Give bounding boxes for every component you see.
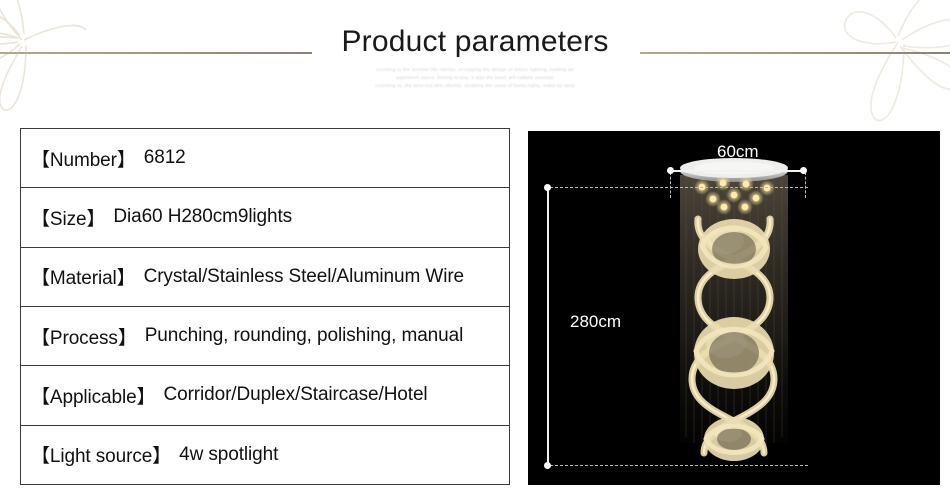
spec-value: Crystal/Stainless Steel/Aluminum Wire bbox=[144, 266, 464, 288]
page-title: Product parameters bbox=[0, 22, 950, 62]
spec-key: 【Number】 bbox=[31, 145, 136, 172]
spec-value: Corridor/Duplex/Staircase/Hotel bbox=[163, 384, 427, 406]
height-dimension-dot-bottom bbox=[544, 462, 551, 469]
subtitle-line-1: ccording to the another life interior, o… bbox=[0, 66, 950, 74]
dimension-extension-bottom bbox=[550, 465, 808, 466]
width-dimension-dot-right bbox=[800, 167, 807, 174]
spec-value: Punching, rounding, polishing, manual bbox=[145, 325, 463, 347]
spec-value: Dia60 H280cm9lights bbox=[113, 206, 292, 228]
table-row: 【Light source】 4w spotlight bbox=[21, 426, 509, 484]
dimension-extension-right bbox=[805, 172, 806, 198]
width-dimension-dot-left bbox=[667, 167, 674, 174]
subtitle-line-2: apartment space, belong to you, it was t… bbox=[0, 74, 950, 82]
spec-key: 【Process】 bbox=[31, 323, 137, 350]
table-row: 【Process】 Punching, rounding, polishing,… bbox=[21, 307, 509, 366]
height-dimension-line bbox=[547, 187, 549, 466]
product-parameters-page: Product parameters ccording to the anoth… bbox=[0, 0, 950, 495]
table-row: 【Material】 Crystal/Stainless Steel/Alumi… bbox=[21, 248, 509, 307]
spec-key: 【Size】 bbox=[31, 204, 105, 231]
dimension-extension-left bbox=[670, 172, 671, 198]
table-row: 【Size】 Dia60 H280cm9lights bbox=[21, 188, 509, 247]
dimension-extension-top bbox=[550, 187, 808, 188]
table-row: 【Number】 6812 bbox=[21, 129, 509, 188]
width-dimension-line bbox=[670, 170, 806, 172]
spec-key: 【Applicable】 bbox=[31, 382, 155, 409]
spec-value: 4w spotlight bbox=[179, 444, 278, 466]
chandelier-product-image bbox=[668, 157, 800, 475]
spec-table: 【Number】 6812 【Size】 Dia60 H280cm9lights… bbox=[20, 128, 510, 485]
width-dimension-label: 60cm bbox=[717, 142, 759, 162]
spec-value: 6812 bbox=[144, 147, 186, 169]
height-dimension-label: 280cm bbox=[570, 312, 621, 332]
page-subtitle: ccording to the another life interior, o… bbox=[0, 66, 950, 90]
table-row: 【Applicable】 Corridor/Duplex/Staircase/H… bbox=[21, 366, 509, 425]
spec-key: 【Material】 bbox=[31, 263, 136, 290]
spec-key: 【Light source】 bbox=[31, 441, 171, 468]
height-dimension-dot-top bbox=[544, 184, 551, 191]
subtitle-line-3: cctording to, the selected skin identity… bbox=[0, 82, 950, 90]
product-photo-panel: 60cm 280cm bbox=[528, 131, 940, 485]
